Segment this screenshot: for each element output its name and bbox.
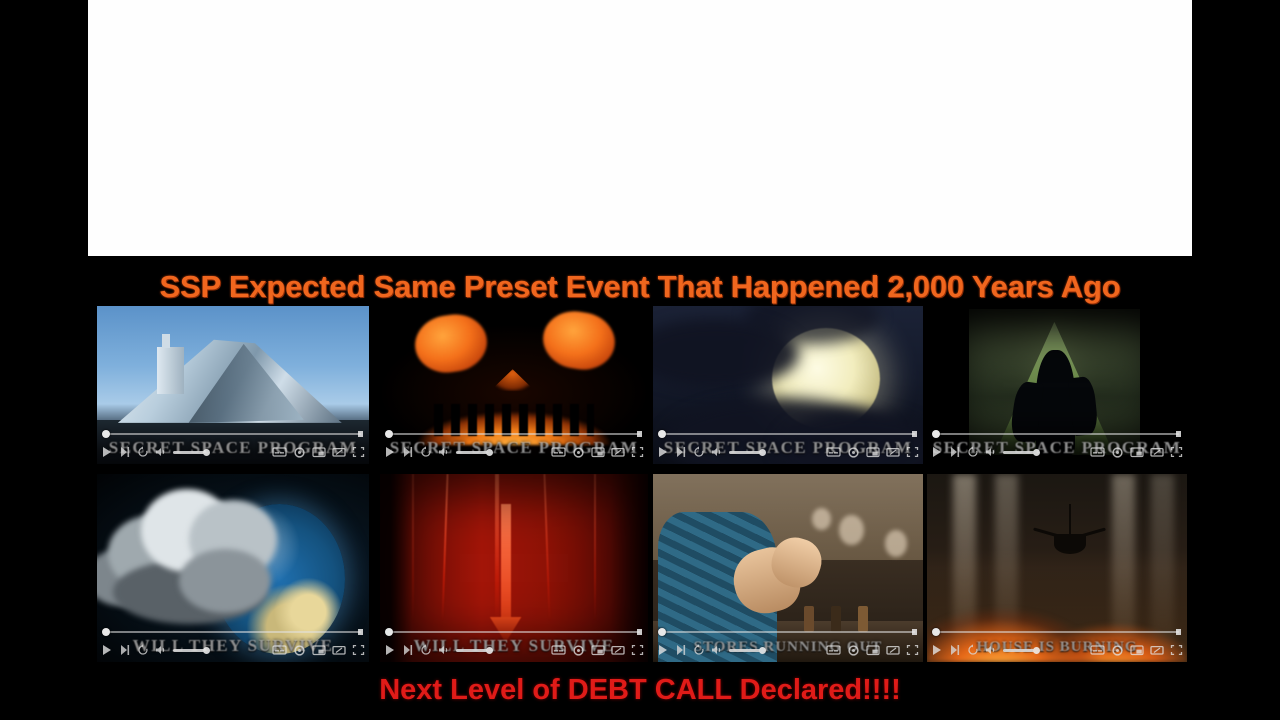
thumbnail-art-full-moon	[653, 306, 923, 464]
video-thumbnail-6[interactable]: WILL THEY SURVIVE	[380, 474, 648, 662]
thumbnail-art-burning-room	[927, 474, 1187, 662]
video-tile-2[interactable]: SECRET SPACE PROGRAM	[380, 306, 648, 464]
thumbnail-art-red-falling-arrow	[380, 474, 648, 662]
video-thumbnail-grid: SECRET SPACE PROGRAM	[97, 306, 1187, 662]
letterbox-bar-right	[1192, 0, 1280, 720]
video-thumbnail-2[interactable]: SECRET SPACE PROGRAM	[380, 306, 648, 464]
video-tile-1[interactable]: SECRET SPACE PROGRAM	[97, 306, 369, 464]
footer-banner-text: Next Level of DEBT CALL Declared!!!!	[88, 668, 1192, 712]
video-thumbnail-8[interactable]: HOUSE IS BURNING	[927, 474, 1187, 662]
video-thumbnail-4[interactable]: SECRET SPACE PROGRAM	[927, 306, 1187, 464]
video-tile-5[interactable]: WILL THEY SURVIVE	[97, 474, 369, 662]
screen-canvas: SSP Expected Same Preset Event That Happ…	[0, 0, 1280, 720]
video-thumbnail-1[interactable]: SECRET SPACE PROGRAM	[97, 306, 369, 464]
video-thumbnail-3[interactable]: SECRET SPACE PROGRAM	[653, 306, 923, 464]
video-tile-4[interactable]: SECRET SPACE PROGRAM	[927, 306, 1187, 464]
video-tile-3[interactable]: SECRET SPACE PROGRAM	[653, 306, 923, 464]
page-title: SSP Expected Same Preset Event That Happ…	[88, 266, 1192, 308]
thumbnail-art-storm-over-earth	[97, 474, 369, 662]
thumbnail-art-triangle-doorway	[927, 306, 1187, 464]
video-tile-8[interactable]: HOUSE IS BURNING	[927, 474, 1187, 662]
letterbox-bar-left	[0, 0, 88, 720]
blank-white-video-area	[88, 0, 1192, 256]
thumbnail-art-pyramid-craft	[97, 306, 369, 464]
video-tile-7[interactable]: STORES RUNNING OUT	[653, 474, 923, 662]
video-thumbnail-7[interactable]: STORES RUNNING OUT	[653, 474, 923, 662]
thumbnail-art-people-at-table	[653, 474, 923, 662]
video-thumbnail-5[interactable]: WILL THEY SURVIVE	[97, 474, 369, 662]
thumbnail-art-glowing-skull	[380, 306, 648, 464]
video-tile-6[interactable]: WILL THEY SURVIVE	[380, 474, 648, 662]
